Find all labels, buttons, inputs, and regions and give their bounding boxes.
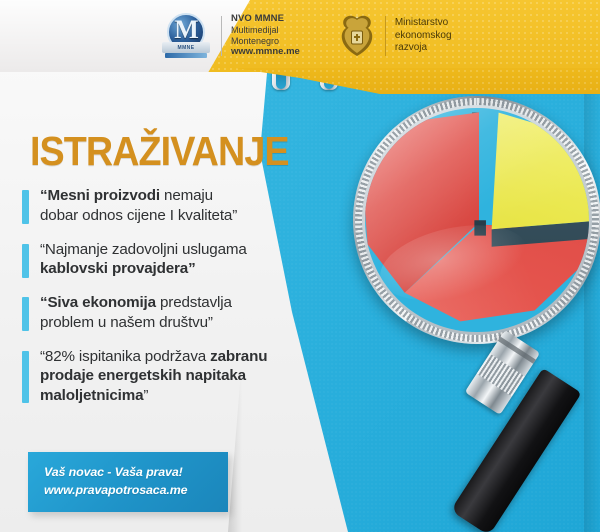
bullet-span: predstavlja bbox=[160, 294, 232, 311]
mmne-text-block: NVO MMNE Multimedijal Montenegro www.mmn… bbox=[231, 14, 300, 57]
bullet-span: “82% ispitanika podržava bbox=[40, 348, 210, 365]
bullet-span: problem u našem društvu” bbox=[40, 314, 213, 331]
ministry-divider bbox=[385, 16, 386, 56]
branding-row: M MMNE NVO MMNE Multimedijal Montenegro … bbox=[160, 8, 452, 64]
footer-cta-band: Vaš novac - Vaša prava! www.pravapotrosa… bbox=[28, 452, 228, 512]
bullet-emphasis: maloljetnicima bbox=[40, 387, 143, 404]
ministry-text-block: Ministarstvo ekonomskog razvoja bbox=[395, 17, 452, 55]
bullet-meat-products: “Mesni proizvodi nemajudobar odnos cijen… bbox=[22, 186, 322, 226]
lens-inner-ring bbox=[362, 105, 592, 335]
bullet-marker bbox=[22, 244, 29, 278]
bullet-line: problem u našem društvu” bbox=[40, 313, 232, 333]
mmne-line3: Montenegro bbox=[231, 36, 300, 46]
ministry-line3: razvoja bbox=[395, 42, 452, 55]
bullet-span: dobar odnos cijene I kvaliteta” bbox=[40, 207, 237, 224]
mmne-website[interactable]: www.mmne.me bbox=[231, 47, 300, 58]
mmne-logo-band-text: MMNE bbox=[178, 45, 195, 51]
bullet-line: “Mesni proizvodi nemaju bbox=[40, 186, 237, 206]
bullet-line: kablovski provajdera” bbox=[40, 259, 247, 279]
ministry-line2: ekonomskog bbox=[395, 30, 452, 43]
bullet-cable-providers: “Najmanje zadovoljni uslugamakablovski p… bbox=[22, 240, 322, 280]
bullet-emphasis: kablovski provajdera” bbox=[40, 260, 196, 277]
bullet-text: “Siva ekonomija predstavljaproblem u naš… bbox=[40, 293, 232, 333]
bullet-text: “82% ispitanika podržava zabranuprodaje … bbox=[40, 347, 267, 406]
ministry-line1: Ministarstvo bbox=[395, 17, 452, 30]
mmne-line2: Multimedijal bbox=[231, 25, 300, 35]
bullet-line: “Najmanje zadovoljni uslugama bbox=[40, 240, 247, 260]
bullet-span: “Najmanje zadovoljni uslugama bbox=[40, 241, 247, 258]
montenegro-coat-of-arms-icon bbox=[338, 14, 376, 58]
lens-glass bbox=[365, 108, 589, 332]
bullet-span: nemaju bbox=[164, 187, 213, 204]
pie-chart bbox=[365, 108, 589, 332]
header-bar: M MMNE NVO MMNE Multimedijal Montenegro … bbox=[0, 0, 600, 72]
footer-slogan: Vaš novac - Vaša prava! bbox=[44, 464, 228, 482]
mmne-logo-band: MMNE bbox=[162, 42, 210, 53]
bullet-line: prodaje energetskih napitaka bbox=[40, 366, 267, 386]
bullet-line: maloljetnicima” bbox=[40, 386, 267, 406]
findings-list: “Mesni proizvodi nemajudobar odnos cijen… bbox=[22, 186, 322, 420]
bullet-text: “Najmanje zadovoljni uslugamakablovski p… bbox=[40, 240, 247, 280]
bullet-line: “Siva ekonomija predstavlja bbox=[40, 293, 232, 313]
bullet-line: dobar odnos cijene I kvaliteta” bbox=[40, 206, 237, 226]
mmne-logo-underbar bbox=[165, 53, 207, 58]
brand-divider bbox=[221, 16, 222, 56]
bullet-marker bbox=[22, 351, 29, 403]
magnifying-glass bbox=[353, 96, 600, 344]
bullet-grey-economy: “Siva ekonomija predstavljaproblem u naš… bbox=[22, 293, 322, 333]
mmne-line1: NVO MMNE bbox=[231, 14, 300, 25]
mmne-logo-letter: M bbox=[160, 15, 212, 45]
infographic-poster: M MMNE NVO MMNE Multimedijal Montenegro … bbox=[0, 0, 600, 532]
page-title: ISTRAŽIVANJE bbox=[30, 128, 289, 175]
bullet-emphasis: zabranu bbox=[210, 348, 267, 365]
bullet-marker bbox=[22, 190, 29, 224]
bullet-emphasis: “Mesni proizvodi bbox=[40, 187, 164, 204]
bullet-energy-drinks: “82% ispitanika podržava zabranuprodaje … bbox=[22, 347, 322, 406]
bullet-marker bbox=[22, 297, 29, 331]
bullet-line: “82% ispitanika podržava zabranu bbox=[40, 347, 267, 367]
bullet-emphasis: prodaje energetskih napitaka bbox=[40, 367, 246, 384]
bullet-emphasis: “Siva ekonomija bbox=[40, 294, 160, 311]
bullet-span: ” bbox=[143, 387, 148, 404]
bullet-text: “Mesni proizvodi nemajudobar odnos cijen… bbox=[40, 186, 237, 226]
footer-website[interactable]: www.pravapotrosaca.me bbox=[44, 482, 228, 500]
mmne-logo: M MMNE bbox=[160, 12, 212, 60]
